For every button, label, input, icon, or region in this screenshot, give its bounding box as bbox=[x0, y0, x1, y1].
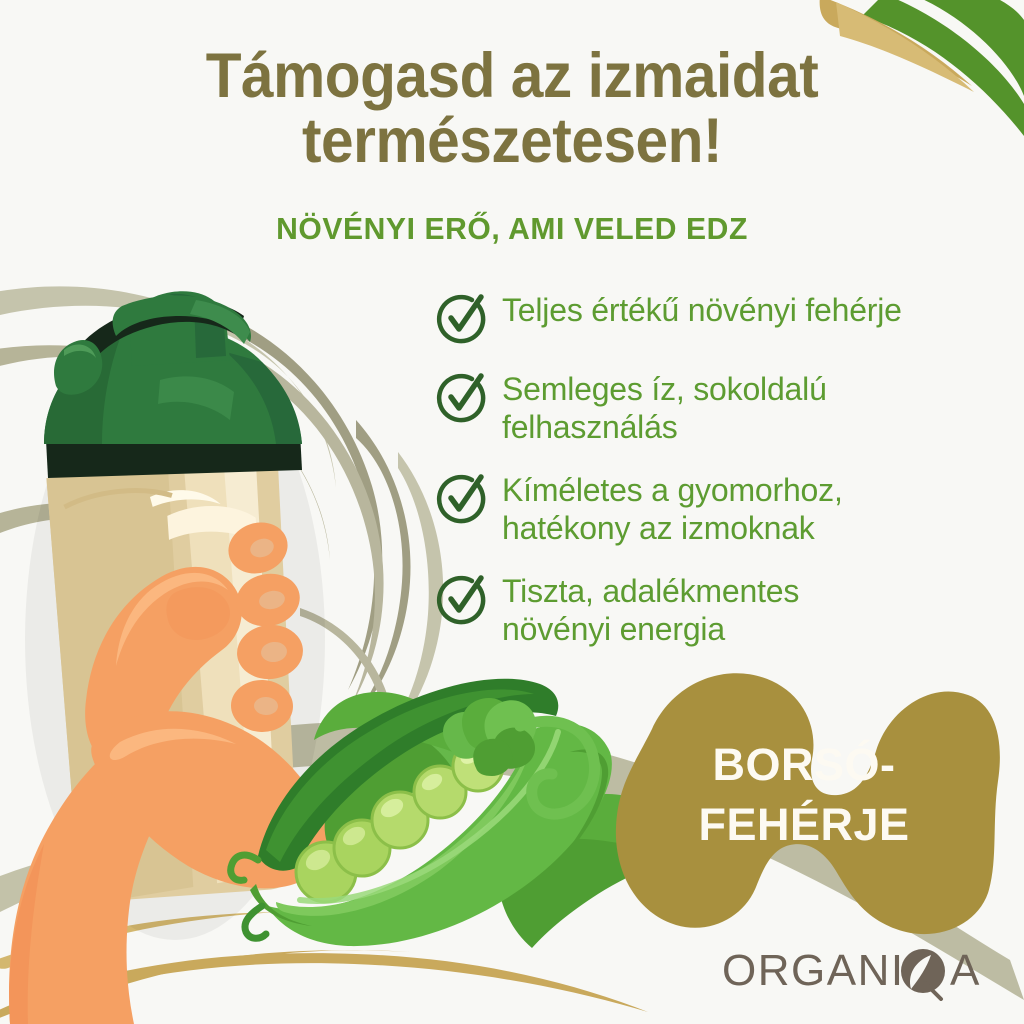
poster-canvas: BORSÓ- FEHÉRJE Támogasd az izmaidat term… bbox=[0, 0, 1024, 1024]
logo-q-leaf-mark bbox=[901, 949, 945, 999]
badge-text-block: BORSÓ- FEHÉRJE bbox=[600, 655, 1000, 935]
check-circle-icon bbox=[434, 289, 490, 345]
logo-text-after: A bbox=[950, 946, 981, 995]
page-subtitle: NÖVÉNYI ERŐ, AMI VELED EDZ bbox=[15, 211, 1008, 247]
check-circle-icon bbox=[434, 368, 490, 424]
list-item-label: Kíméletes a gyomorhoz, hatékony az izmok… bbox=[502, 467, 843, 547]
logo-text-before: ORGANI bbox=[722, 946, 905, 995]
list-item-label: Tiszta, adalékmentes növényi energia bbox=[502, 568, 799, 648]
brand-logo: ORGANI A bbox=[722, 943, 992, 1001]
list-item: Semleges íz, sokoldalú felhasználás bbox=[434, 366, 994, 446]
page-title: Támogasd az izmaidat természetesen! bbox=[36, 44, 988, 174]
list-item-label: Teljes értékű növényi fehérje bbox=[502, 287, 902, 329]
check-circle-icon bbox=[434, 469, 490, 525]
badge-line-2: FEHÉRJE bbox=[698, 795, 909, 855]
list-item: Kíméletes a gyomorhoz, hatékony az izmok… bbox=[434, 467, 994, 547]
list-item-label: Semleges íz, sokoldalú felhasználás bbox=[502, 366, 827, 446]
list-item: Teljes értékű növényi fehérje bbox=[434, 287, 994, 345]
check-circle-icon bbox=[434, 570, 490, 626]
badge-line-1: BORSÓ- bbox=[713, 735, 896, 795]
product-badge: BORSÓ- FEHÉRJE bbox=[600, 655, 1000, 935]
benefits-list: Teljes értékű növényi fehérje Semleges í… bbox=[434, 287, 994, 669]
list-item: Tiszta, adalékmentes növényi energia bbox=[434, 568, 994, 648]
